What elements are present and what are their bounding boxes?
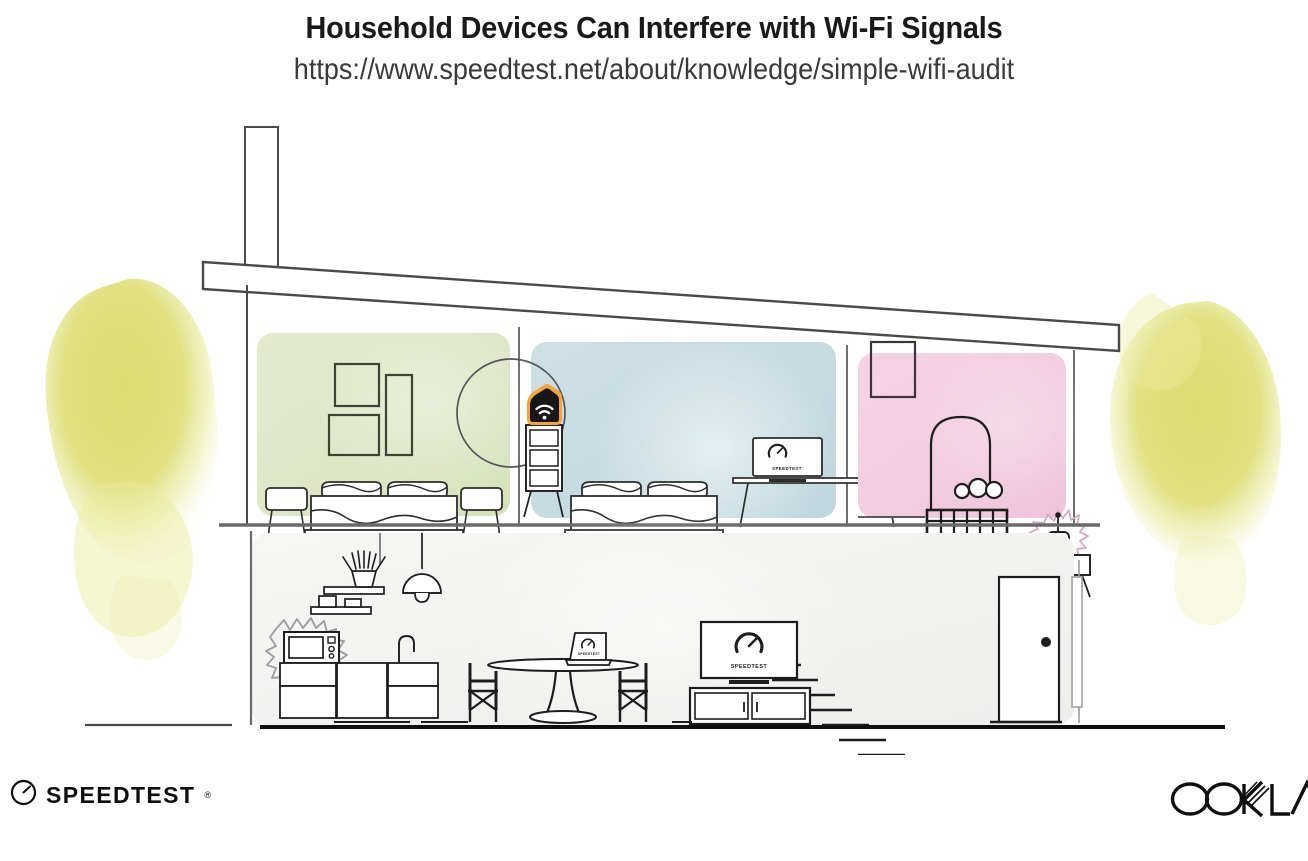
header: Household Devices Can Interfere with Wi-… bbox=[0, 0, 1308, 87]
ground-floor: SPEEDTEST SPEEDTEST bbox=[251, 505, 1082, 755]
source-url: https://www.speedtest.net/about/knowledg… bbox=[65, 46, 1242, 87]
wall-shelf-upper bbox=[324, 587, 384, 594]
door-knob[interactable] bbox=[1041, 637, 1051, 647]
tree-left bbox=[45, 279, 217, 661]
page-title: Household Devices Can Interfere with Wi-… bbox=[46, 0, 1262, 46]
tree-right bbox=[1110, 293, 1281, 625]
speedtest-logo: SPEEDTEST ® bbox=[10, 779, 211, 811]
sidelight-window bbox=[1072, 560, 1082, 723]
microwave bbox=[284, 632, 339, 663]
monitor: SPEEDTEST bbox=[753, 438, 822, 482]
speedtest-trademark: ® bbox=[204, 790, 211, 800]
ground-line bbox=[85, 725, 1225, 727]
footer: SPEEDTEST ® ™ bbox=[0, 761, 1308, 861]
kitchen-cabinets bbox=[280, 663, 438, 718]
house-illustration: SPEEDTEST bbox=[0, 105, 1308, 755]
chimney bbox=[245, 127, 278, 269]
front-door[interactable] bbox=[990, 577, 1062, 722]
laptop-screen-label: SPEEDTEST bbox=[578, 652, 600, 656]
green-bedroom bbox=[257, 315, 550, 544]
monitor-screen-label: SPEEDTEST bbox=[772, 466, 802, 471]
tv-screen-label: SPEEDTEST bbox=[731, 664, 768, 670]
television: SPEEDTEST bbox=[701, 622, 797, 684]
media-console bbox=[690, 688, 810, 724]
wall-shelf-lower bbox=[311, 607, 371, 614]
ookla-logo: ™ bbox=[1164, 775, 1308, 826]
speedometer-gauge-icon bbox=[10, 779, 37, 811]
speedtest-wordmark: SPEEDTEST bbox=[46, 782, 195, 809]
